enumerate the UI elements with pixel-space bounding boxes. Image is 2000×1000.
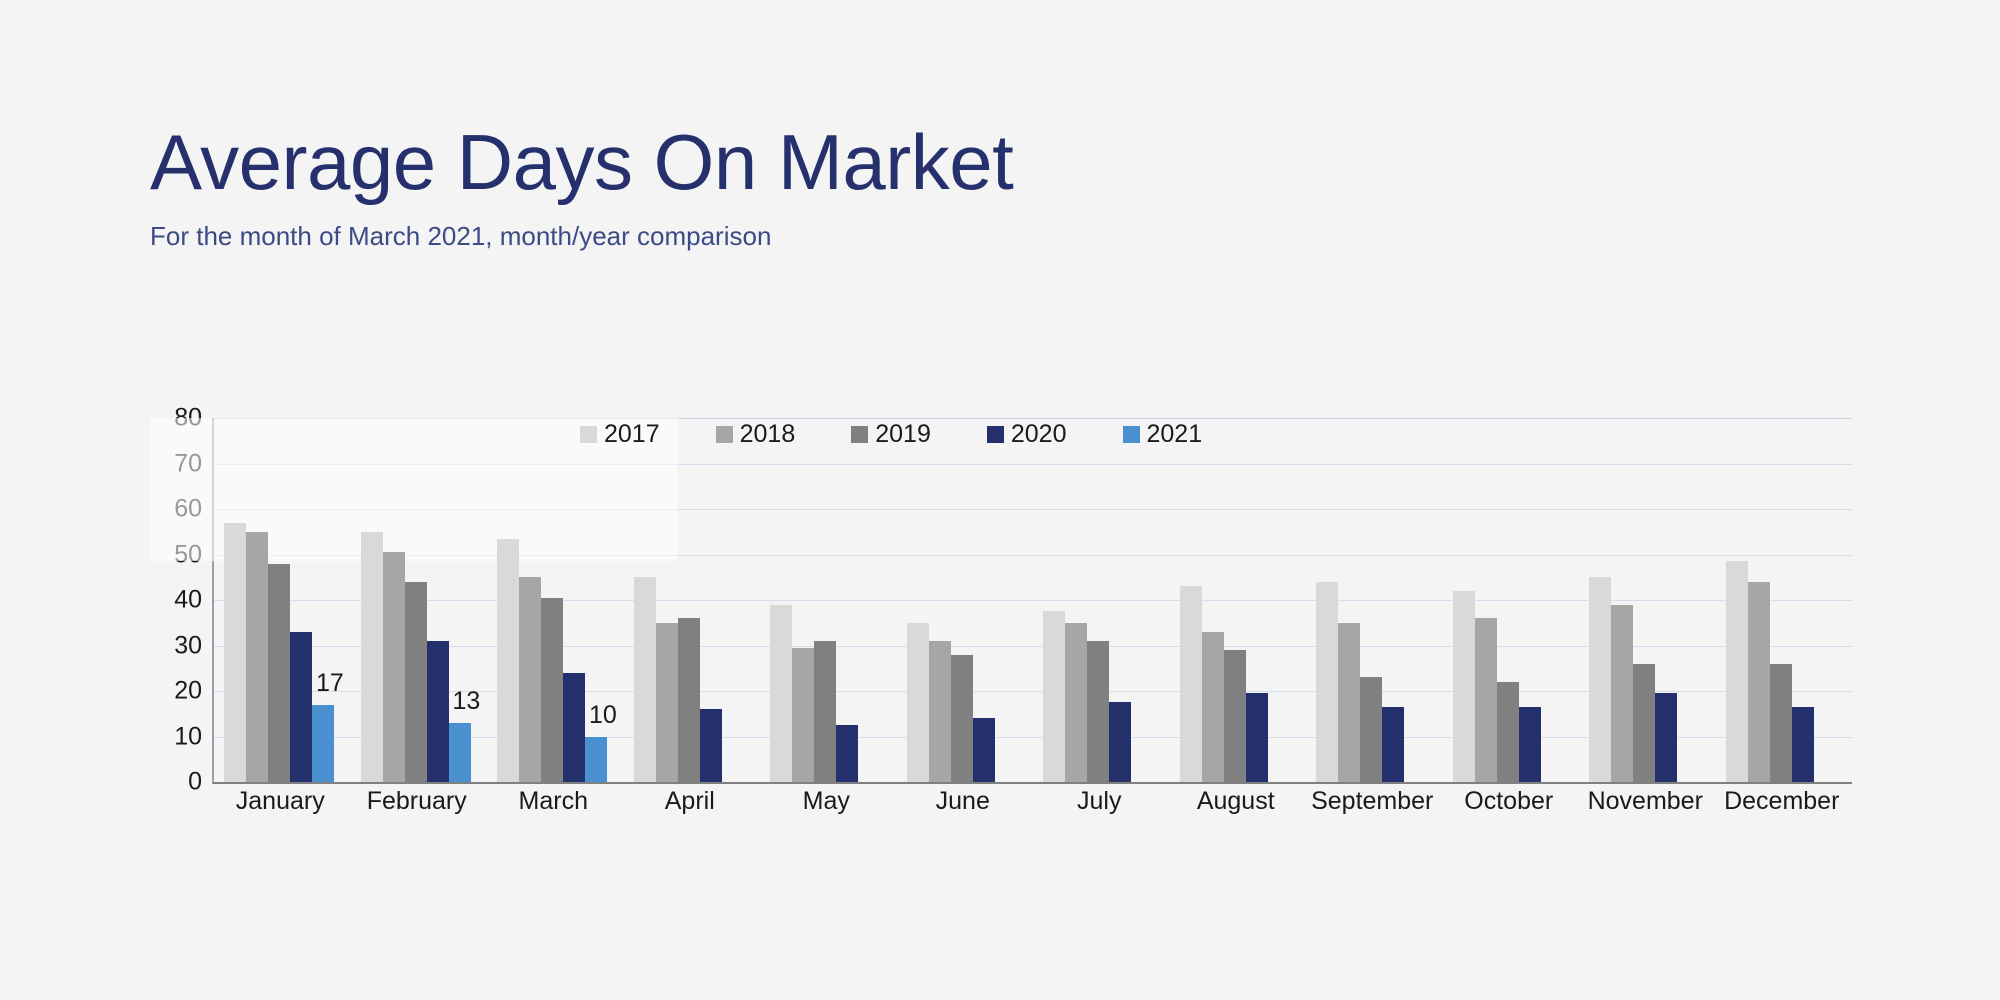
legend-item-2019[interactable]: 2019 — [851, 422, 931, 447]
bar-november-2019[interactable] — [1633, 664, 1655, 782]
bar-value-label: 10 — [589, 703, 617, 728]
x-axis-tick-september: September — [1304, 786, 1441, 816]
bar-september-2017[interactable] — [1316, 582, 1338, 782]
bar-september-2019[interactable] — [1360, 677, 1382, 782]
y-axis-tick: 50 — [150, 542, 202, 567]
x-axis-tick-october: October — [1441, 786, 1578, 816]
bar-may-2020[interactable] — [836, 725, 858, 782]
x-axis-tick-june: June — [895, 786, 1032, 816]
y-axis: 80706050403020100 — [150, 418, 202, 782]
bar-group-january: 17 — [214, 418, 351, 782]
bar-july-2017[interactable] — [1043, 611, 1065, 782]
bar-group-august — [1170, 418, 1307, 782]
x-axis-tick-february: February — [349, 786, 486, 816]
plot-area: 171310 — [212, 418, 1852, 784]
bar-group-april — [624, 418, 761, 782]
bar-october-2020[interactable] — [1519, 707, 1541, 782]
x-axis-tick-january: January — [212, 786, 349, 816]
legend-label: 2021 — [1147, 422, 1203, 447]
legend-label: 2017 — [604, 422, 660, 447]
bar-row — [214, 418, 351, 782]
bar-december-2017[interactable] — [1726, 561, 1748, 782]
bar-november-2018[interactable] — [1611, 605, 1633, 782]
bar-june-2019[interactable] — [951, 655, 973, 782]
y-axis-tick: 0 — [150, 770, 202, 795]
bar-september-2020[interactable] — [1382, 707, 1404, 782]
y-axis-tick: 10 — [150, 724, 202, 749]
bar-group-december — [1716, 418, 1853, 782]
bar-january-2019[interactable] — [268, 564, 290, 782]
x-axis-tick-november: November — [1577, 786, 1714, 816]
bar-may-2017[interactable] — [770, 605, 792, 782]
x-axis-tick-march: March — [485, 786, 622, 816]
bar-november-2020[interactable] — [1655, 693, 1677, 782]
bar-august-2020[interactable] — [1246, 693, 1268, 782]
y-axis-tick: 20 — [150, 679, 202, 704]
bar-row — [1306, 418, 1443, 782]
chart-legend: 20172018201920202021 — [580, 414, 1202, 454]
bar-value-label: 13 — [453, 689, 481, 714]
bar-march-2018[interactable] — [519, 577, 541, 782]
x-axis-tick-august: August — [1168, 786, 1305, 816]
bar-may-2018[interactable] — [792, 648, 814, 782]
y-axis-tick: 60 — [150, 497, 202, 522]
bar-row — [1033, 418, 1170, 782]
legend-item-2017[interactable]: 2017 — [580, 422, 660, 447]
legend-swatch-icon — [851, 426, 868, 443]
bar-april-2017[interactable] — [634, 577, 656, 782]
bar-row — [1170, 418, 1307, 782]
bar-january-2018[interactable] — [246, 532, 268, 782]
page-subtitle: For the month of March 2021, month/year … — [150, 220, 1650, 252]
bar-row — [1716, 418, 1853, 782]
bar-group-october — [1443, 418, 1580, 782]
x-axis-tick-july: July — [1031, 786, 1168, 816]
bar-june-2020[interactable] — [973, 718, 995, 782]
bar-july-2020[interactable] — [1109, 702, 1131, 782]
y-axis-tick: 70 — [150, 451, 202, 476]
bar-group-september — [1306, 418, 1443, 782]
bar-january-2020[interactable] — [290, 632, 312, 782]
bar-october-2019[interactable] — [1497, 682, 1519, 782]
y-axis-tick: 30 — [150, 633, 202, 658]
bar-august-2018[interactable] — [1202, 632, 1224, 782]
bar-march-2020[interactable] — [563, 673, 585, 782]
bar-january-2017[interactable] — [224, 523, 246, 782]
bar-february-2019[interactable] — [405, 582, 427, 782]
legend-label: 2019 — [875, 422, 931, 447]
header: Average Days On Market For the month of … — [150, 120, 1650, 252]
bar-october-2018[interactable] — [1475, 618, 1497, 782]
bar-february-2020[interactable] — [427, 641, 449, 782]
legend-label: 2020 — [1011, 422, 1067, 447]
bar-group-june — [897, 418, 1034, 782]
bar-group-july — [1033, 418, 1170, 782]
bar-august-2019[interactable] — [1224, 650, 1246, 782]
bar-group-november — [1579, 418, 1716, 782]
bar-group-february: 13 — [351, 418, 488, 782]
bar-august-2017[interactable] — [1180, 586, 1202, 782]
bar-group-may — [760, 418, 897, 782]
bar-march-2017[interactable] — [497, 539, 519, 782]
bar-january-2021[interactable] — [312, 705, 334, 782]
bar-february-2021[interactable] — [449, 723, 471, 782]
legend-item-2021[interactable]: 2021 — [1123, 422, 1203, 447]
x-axis-tick-april: April — [622, 786, 759, 816]
x-axis-tick-may: May — [758, 786, 895, 816]
legend-swatch-icon — [987, 426, 1004, 443]
slide-canvas: Average Days On Market For the month of … — [0, 0, 2000, 1000]
bar-row — [897, 418, 1034, 782]
legend-label: 2018 — [740, 422, 796, 447]
y-axis-tick: 40 — [150, 588, 202, 613]
bar-february-2017[interactable] — [361, 532, 383, 782]
bar-june-2017[interactable] — [907, 623, 929, 782]
bar-february-2018[interactable] — [383, 552, 405, 782]
legend-item-2018[interactable]: 2018 — [716, 422, 796, 447]
y-axis-tick: 80 — [150, 406, 202, 431]
bar-row — [760, 418, 897, 782]
legend-item-2020[interactable]: 2020 — [987, 422, 1067, 447]
bar-december-2018[interactable] — [1748, 582, 1770, 782]
bar-april-2020[interactable] — [700, 709, 722, 782]
bars-layer: 171310 — [214, 418, 1852, 782]
x-axis: JanuaryFebruaryMarchAprilMayJuneJulyAugu… — [212, 786, 1850, 816]
bar-march-2021[interactable] — [585, 737, 607, 783]
bar-row — [1443, 418, 1580, 782]
bar-september-2018[interactable] — [1338, 623, 1360, 782]
bar-june-2018[interactable] — [929, 641, 951, 782]
bar-may-2019[interactable] — [814, 641, 836, 782]
bar-row — [351, 418, 488, 782]
x-axis-tick-december: December — [1714, 786, 1851, 816]
bar-november-2017[interactable] — [1589, 577, 1611, 782]
bar-december-2020[interactable] — [1792, 707, 1814, 782]
bar-chart: 80706050403020100 171310 201720182019202… — [150, 418, 1850, 838]
bar-july-2018[interactable] — [1065, 623, 1087, 782]
bar-april-2019[interactable] — [678, 618, 700, 782]
legend-swatch-icon — [1123, 426, 1140, 443]
bar-value-label: 17 — [316, 671, 344, 696]
legend-swatch-icon — [580, 426, 597, 443]
page-title: Average Days On Market — [150, 120, 1650, 204]
bar-group-march: 10 — [487, 418, 624, 782]
bar-march-2019[interactable] — [541, 598, 563, 782]
bar-december-2019[interactable] — [1770, 664, 1792, 782]
bar-october-2017[interactable] — [1453, 591, 1475, 782]
bar-row — [624, 418, 761, 782]
bar-row — [1579, 418, 1716, 782]
bar-july-2019[interactable] — [1087, 641, 1109, 782]
legend-swatch-icon — [716, 426, 733, 443]
bar-april-2018[interactable] — [656, 623, 678, 782]
